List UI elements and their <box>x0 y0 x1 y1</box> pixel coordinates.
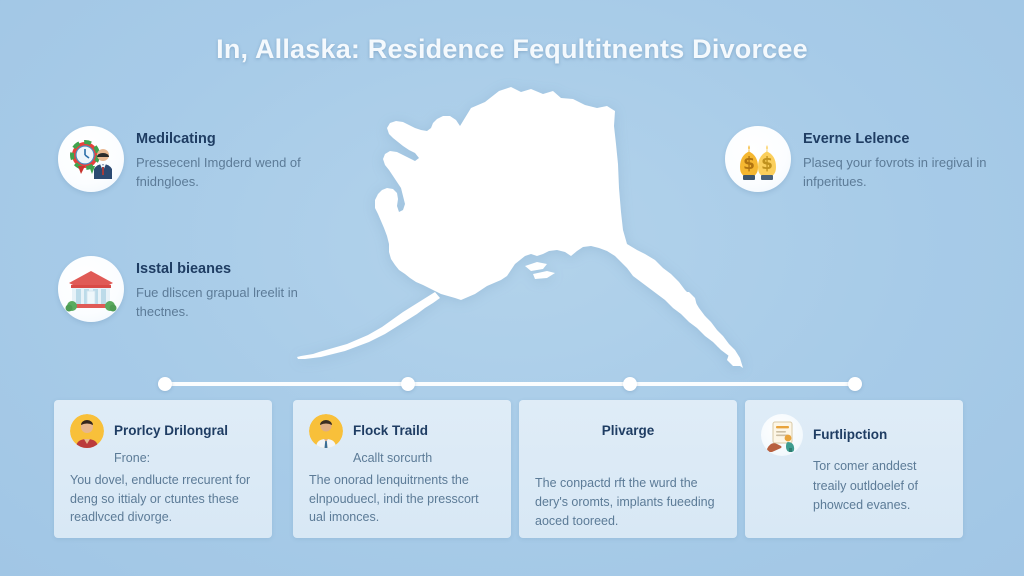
feature-text: Isstal bieanes Fue dliscen grapual lreel… <box>136 256 326 322</box>
feature-title: Everne Lelence <box>803 132 1008 148</box>
page-title: In, Allaska: Residence Fequltitnents Div… <box>0 34 1024 65</box>
card-header: Prorlcy Drilongral <box>70 414 256 448</box>
feature-item-isstal-bieanes[interactable]: Isstal bieanes Fue dliscen grapual lreel… <box>58 256 328 322</box>
svg-text:$: $ <box>743 154 755 174</box>
info-card-prorlcy-drilongral[interactable]: Prorlcy Drilongral Frone: You dovel, end… <box>54 400 272 538</box>
timeline-dot-1[interactable] <box>158 377 172 391</box>
avatar-person-tie-icon <box>309 414 343 448</box>
alaska-map-silhouette-icon <box>285 78 755 378</box>
card-header: Flock Traild <box>309 414 495 448</box>
feature-body: Plaseq your fovrots in iregival in infpe… <box>803 154 1008 192</box>
timeline-dot-2[interactable] <box>401 377 415 391</box>
wreath-clock-person-icon <box>58 126 124 192</box>
feature-text: Medilcating Pressecenl Imgderd wend of f… <box>136 126 326 192</box>
card-header: Plivarge <box>535 414 721 448</box>
info-card-flock-traild[interactable]: Flock Traild Acallt sorcurth The onorad … <box>293 400 511 538</box>
infographic-canvas: In, Allaska: Residence Fequltitnents Div… <box>0 0 1024 576</box>
timeline-track <box>158 382 854 386</box>
card-title: Plivarge <box>602 423 655 439</box>
card-subtitle: Tor comer anddest <box>813 458 947 475</box>
timeline <box>150 377 862 391</box>
card-subtitle: Acallt sorcurth <box>353 450 495 467</box>
svg-text:$: $ <box>761 154 773 174</box>
feature-title: Medilcating <box>136 132 326 148</box>
info-card-plivarge[interactable]: Plivarge The conpactd rft the wurd the d… <box>519 400 737 538</box>
card-title: Flock Traild <box>353 423 428 439</box>
feature-body: Fue dliscen grapual lreelit in thectnes. <box>136 284 326 322</box>
timeline-dot-4[interactable] <box>848 377 862 391</box>
feature-body: Pressecenl Imgderd wend of fnidngloes. <box>136 154 326 192</box>
info-card-furtlipction[interactable]: Furtlipction Tor comer anddest treaily o… <box>745 400 963 538</box>
card-body: The onorad lenquitrnents the elnpouduecl… <box>309 471 495 527</box>
card-title: Furtlipction <box>813 427 887 443</box>
card-body: The conpactd rft the wurd the dery's oro… <box>535 474 721 530</box>
card-subtitle: Frone: <box>114 450 256 467</box>
timeline-dot-3[interactable] <box>623 377 637 391</box>
feature-item-medilcating[interactable]: Medilcating Pressecenl Imgderd wend of f… <box>58 126 328 192</box>
card-title: Prorlcy Drilongral <box>114 423 228 439</box>
money-bags-dollar-icon: $ $ <box>725 126 791 192</box>
courthouse-icon <box>58 256 124 322</box>
clipboard-hand-icon <box>761 414 803 456</box>
feature-item-everne-lelence[interactable]: $ $ Everne Lelence Plaseq your fovrots i… <box>725 126 1010 192</box>
card-header: Furtlipction <box>761 414 947 456</box>
feature-title: Isstal bieanes <box>136 262 326 278</box>
card-body: treaily outldoelef of phowced evanes. <box>813 477 947 515</box>
card-body: You dovel, endlucte rrecurent for deng s… <box>70 471 256 527</box>
avatar-person-red-icon <box>70 414 104 448</box>
feature-text: Everne Lelence Plaseq your fovrots in ir… <box>803 126 1008 192</box>
